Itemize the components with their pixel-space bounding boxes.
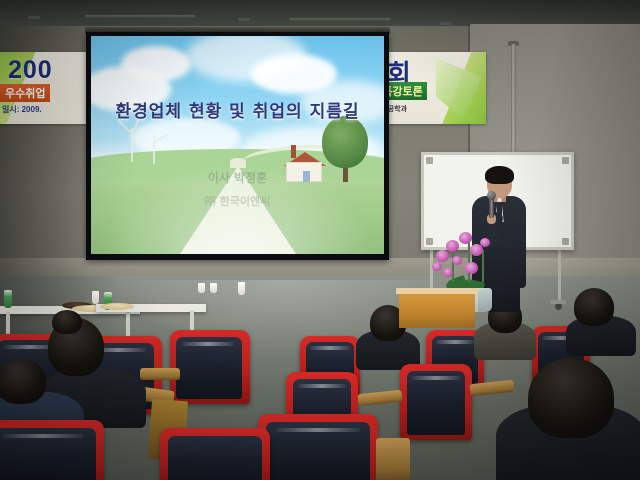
seat-armrest xyxy=(140,368,180,380)
orchid-bloom xyxy=(443,268,453,277)
orchid-bloom xyxy=(459,232,472,244)
lectern-top xyxy=(396,288,478,294)
ceiling-light-fixture xyxy=(85,15,195,19)
paper-cup xyxy=(92,291,99,304)
seat-highlight xyxy=(298,384,346,388)
banner-year-text: 200 xyxy=(8,56,53,85)
seat-armrest xyxy=(376,438,410,480)
seat-highlight xyxy=(276,428,360,432)
slide-organization: ㈜ 한국이엔씨 xyxy=(91,193,384,209)
snack-plate xyxy=(100,303,134,310)
whiteboard-leg xyxy=(558,242,561,306)
paper-cup xyxy=(210,283,217,293)
event-banner-left: 200 우수취업 일시: 2009. xyxy=(0,52,100,124)
audience-head xyxy=(528,358,614,438)
whiteboard-wheel xyxy=(555,303,562,310)
seat-highlight xyxy=(412,376,460,380)
seat-back-pad xyxy=(168,436,262,480)
audience-head xyxy=(574,288,614,326)
orchid-bloom xyxy=(446,240,459,252)
banner-tag-left: 우수취업 xyxy=(0,84,50,102)
audience-hair-bun xyxy=(52,310,82,334)
ceiling-vent xyxy=(28,16,40,19)
wall-fixture-pole xyxy=(511,44,516,164)
beverage-bottle xyxy=(4,290,12,308)
microphone-icon xyxy=(487,191,496,200)
ceiling-vent xyxy=(440,22,452,25)
audience-head xyxy=(0,358,46,404)
cloud-shape xyxy=(121,46,191,82)
seat-highlight xyxy=(310,346,350,350)
orchid-stem xyxy=(468,240,470,282)
seat-highlight xyxy=(2,434,84,438)
whiteboard-corner xyxy=(426,157,433,164)
orchid-bloom xyxy=(432,262,442,271)
projected-slide: 환경업체 현황 및 취업의 지름길 이사 박정훈 ㈜ 한국이엔씨 xyxy=(91,36,384,254)
ceiling-vent xyxy=(238,18,250,21)
paper-cup xyxy=(198,283,205,293)
orchid-bloom xyxy=(436,250,449,262)
seminar-photo: 200 우수취업 일시: 2009. 수회 취업특강토론 학교 환경공학과 xyxy=(0,0,640,480)
lectern xyxy=(399,292,475,328)
slide-title: 환경업체 현황 및 취업의 지름길 xyxy=(91,97,384,122)
projection-screen: 환경업체 현황 및 취업의 지름길 이사 박정훈 ㈜ 한국이엔씨 xyxy=(86,32,389,260)
seat-back-pad xyxy=(176,337,242,399)
paper-cup xyxy=(238,282,245,295)
banner-date-text: 일시: 2009. xyxy=(2,104,42,115)
seat-highlight xyxy=(182,342,234,346)
whiteboard-foot xyxy=(550,300,566,304)
whiteboard-corner xyxy=(562,157,569,164)
ceiling-light-fixture xyxy=(290,18,390,22)
slide-presenter-name: 이사 박정훈 xyxy=(91,169,384,186)
seat-back-pad xyxy=(407,371,465,435)
glasses-icon xyxy=(489,180,510,185)
orchid-bloom xyxy=(452,256,462,265)
tree-icon xyxy=(322,116,368,168)
seat-highlight xyxy=(436,340,474,344)
whiteboard-corner xyxy=(426,238,433,245)
orchid-bloom xyxy=(465,262,478,274)
orchid-bloom xyxy=(480,238,490,247)
orchid-stem xyxy=(482,250,484,282)
whiteboard-corner xyxy=(562,238,569,245)
